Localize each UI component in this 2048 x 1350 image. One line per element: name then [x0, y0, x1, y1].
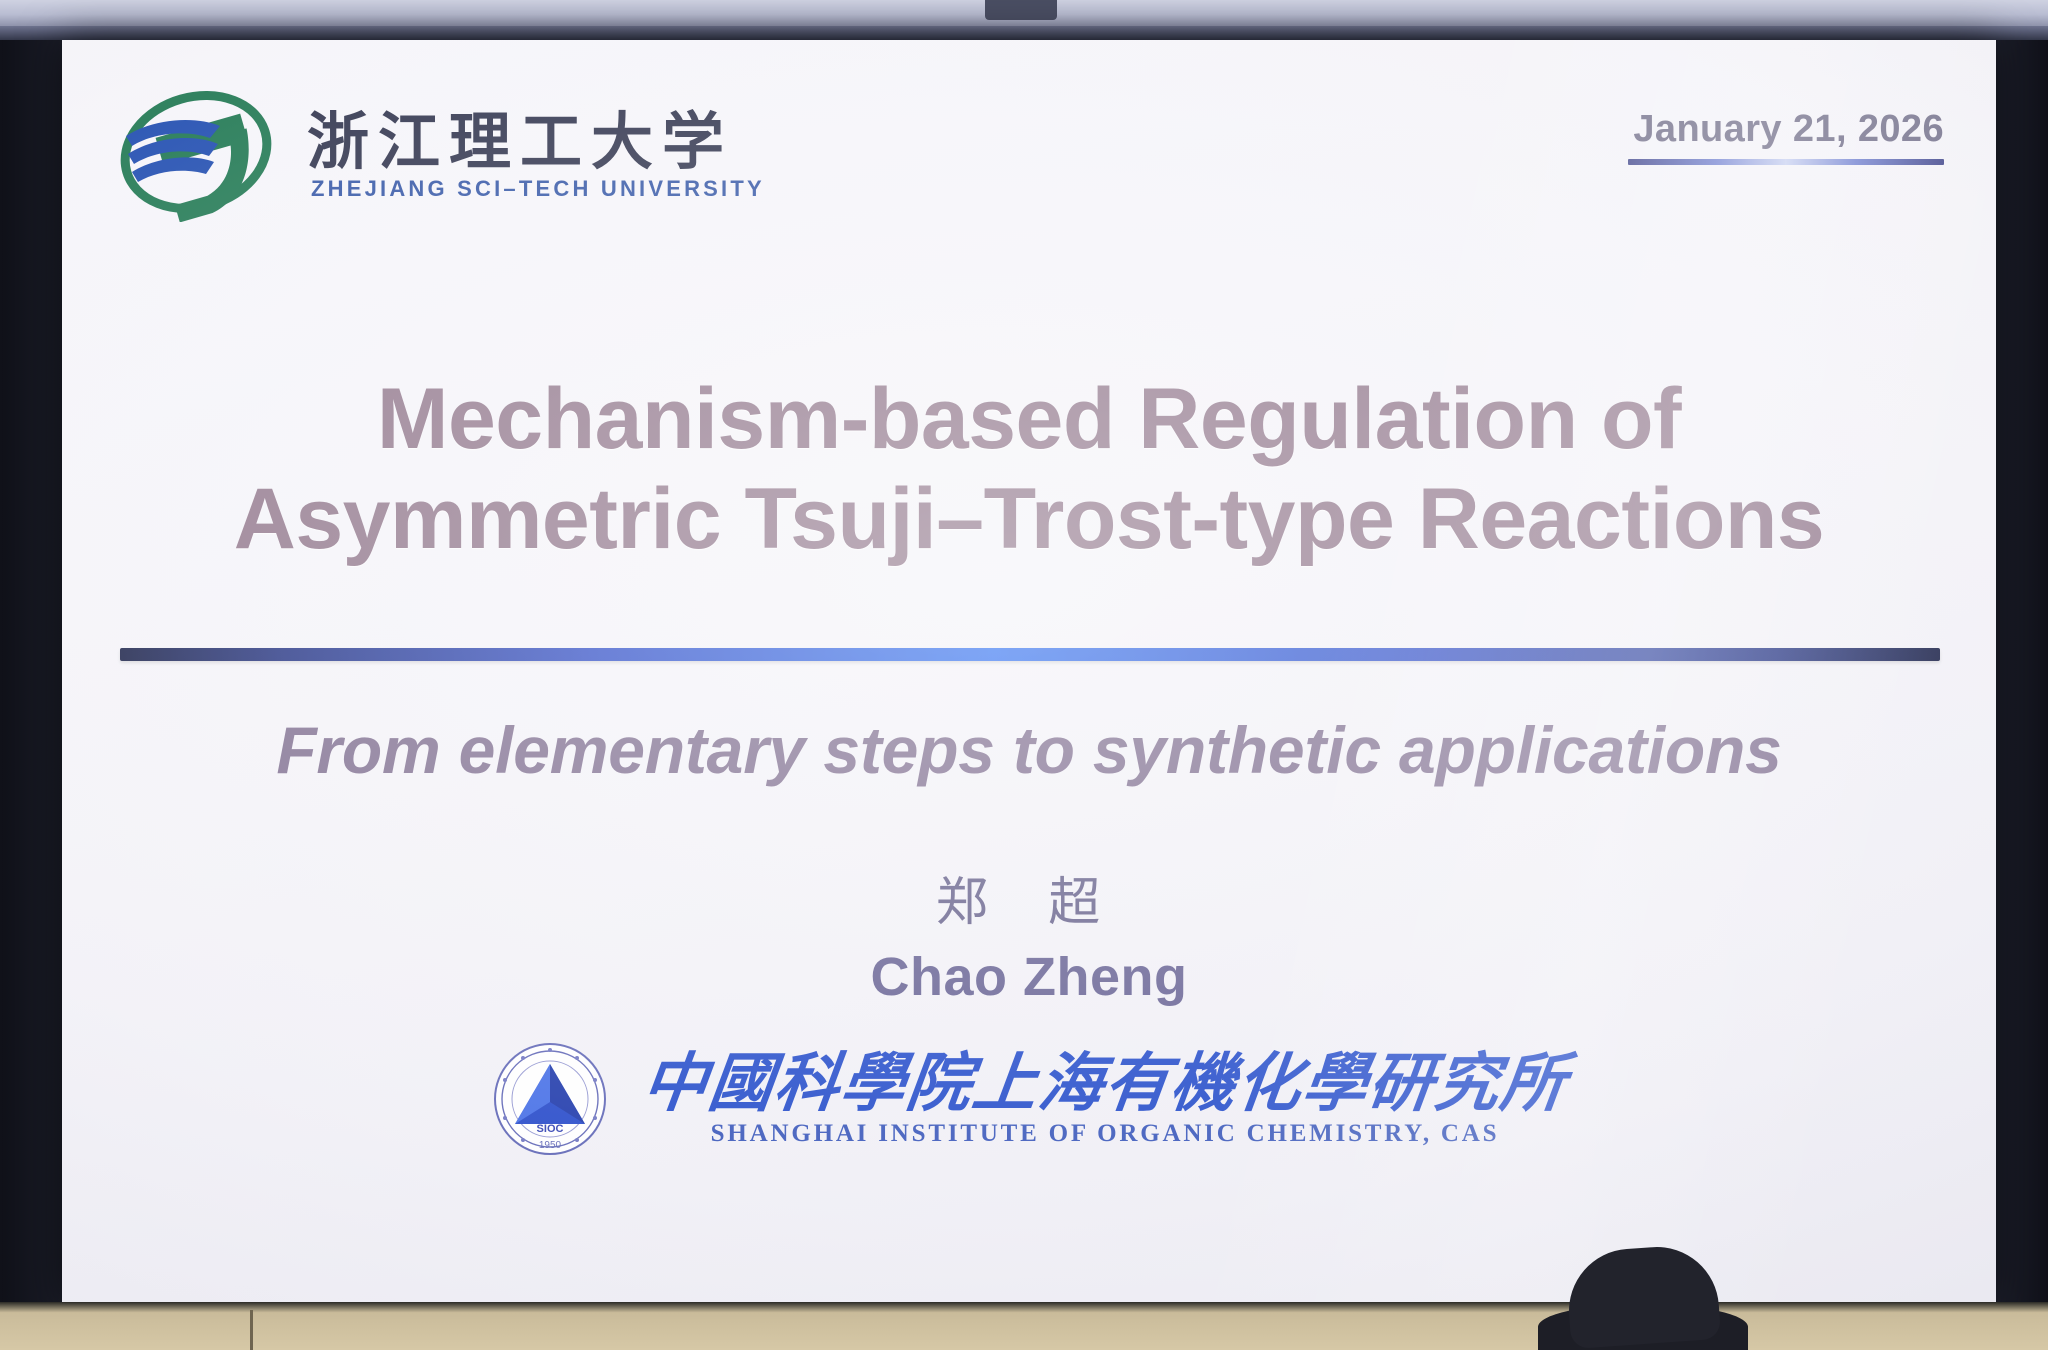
svg-text:1950: 1950 — [539, 1140, 562, 1151]
slide-subtitle: From elementary steps to synthetic appli… — [62, 712, 1996, 788]
title-separator-rule — [120, 648, 1940, 661]
speaker-name-en: Chao Zheng — [62, 946, 1996, 1008]
title-line-2: Asymmetric Tsuji–Trost-type Reactions — [62, 470, 1996, 570]
sioc-seal-icon: SIOC 1950 — [491, 1040, 609, 1158]
university-branding: 浙江理工大学 ZHEJIANG SCI–TECH UNIVERSITY — [110, 90, 765, 222]
projection-screen: 浙江理工大学 ZHEJIANG SCI–TECH UNIVERSITY Janu… — [62, 40, 1996, 1302]
institute-block: SIOC 1950 中國科學院上海有機化學研究所 SHANGHAI INSTIT… — [62, 1040, 1996, 1158]
speaker-name-cn: 郑 超 — [62, 870, 1996, 938]
zhejiang-sci-tech-university-logo-icon — [110, 90, 285, 222]
wall-right — [1996, 40, 2048, 1302]
institute-name-group: 中國科學院上海有機化學研究所 SHANGHAI INSTITUTE OF ORG… — [643, 1050, 1567, 1147]
desk-edge-line — [250, 1310, 253, 1350]
university-name-en: ZHEJIANG SCI–TECH UNIVERSITY — [307, 176, 765, 202]
slide-header: 浙江理工大学 ZHEJIANG SCI–TECH UNIVERSITY Janu… — [62, 40, 1996, 250]
ceiling-strip-shadow — [0, 26, 2048, 40]
speaker-block: 郑 超 Chao Zheng — [62, 870, 1996, 1008]
slide-date: January 21, 2026 — [1628, 108, 1944, 151]
projector-mount — [985, 0, 1057, 20]
presentation-slide: 浙江理工大学 ZHEJIANG SCI–TECH UNIVERSITY Janu… — [62, 40, 1996, 1302]
institute-name-cn: 中國科學院上海有機化學研究所 — [639, 1050, 1571, 1117]
date-underline-rule — [1628, 159, 1944, 165]
lecture-room-photo: 浙江理工大学 ZHEJIANG SCI–TECH UNIVERSITY Janu… — [0, 0, 2048, 1350]
svg-text:SIOC: SIOC — [537, 1123, 564, 1135]
university-name-group: 浙江理工大学 ZHEJIANG SCI–TECH UNIVERSITY — [307, 110, 765, 201]
title-line-1: Mechanism-based Regulation of — [62, 370, 1996, 470]
institute-name-en: SHANGHAI INSTITUTE OF ORGANIC CHEMISTRY,… — [711, 1120, 1500, 1148]
slide-date-block: January 21, 2026 — [1628, 108, 1944, 165]
university-name-cn: 浙江理工大学 — [307, 110, 765, 173]
wall-left — [0, 40, 62, 1302]
slide-title: Mechanism-based Regulation of Asymmetric… — [62, 370, 1996, 570]
